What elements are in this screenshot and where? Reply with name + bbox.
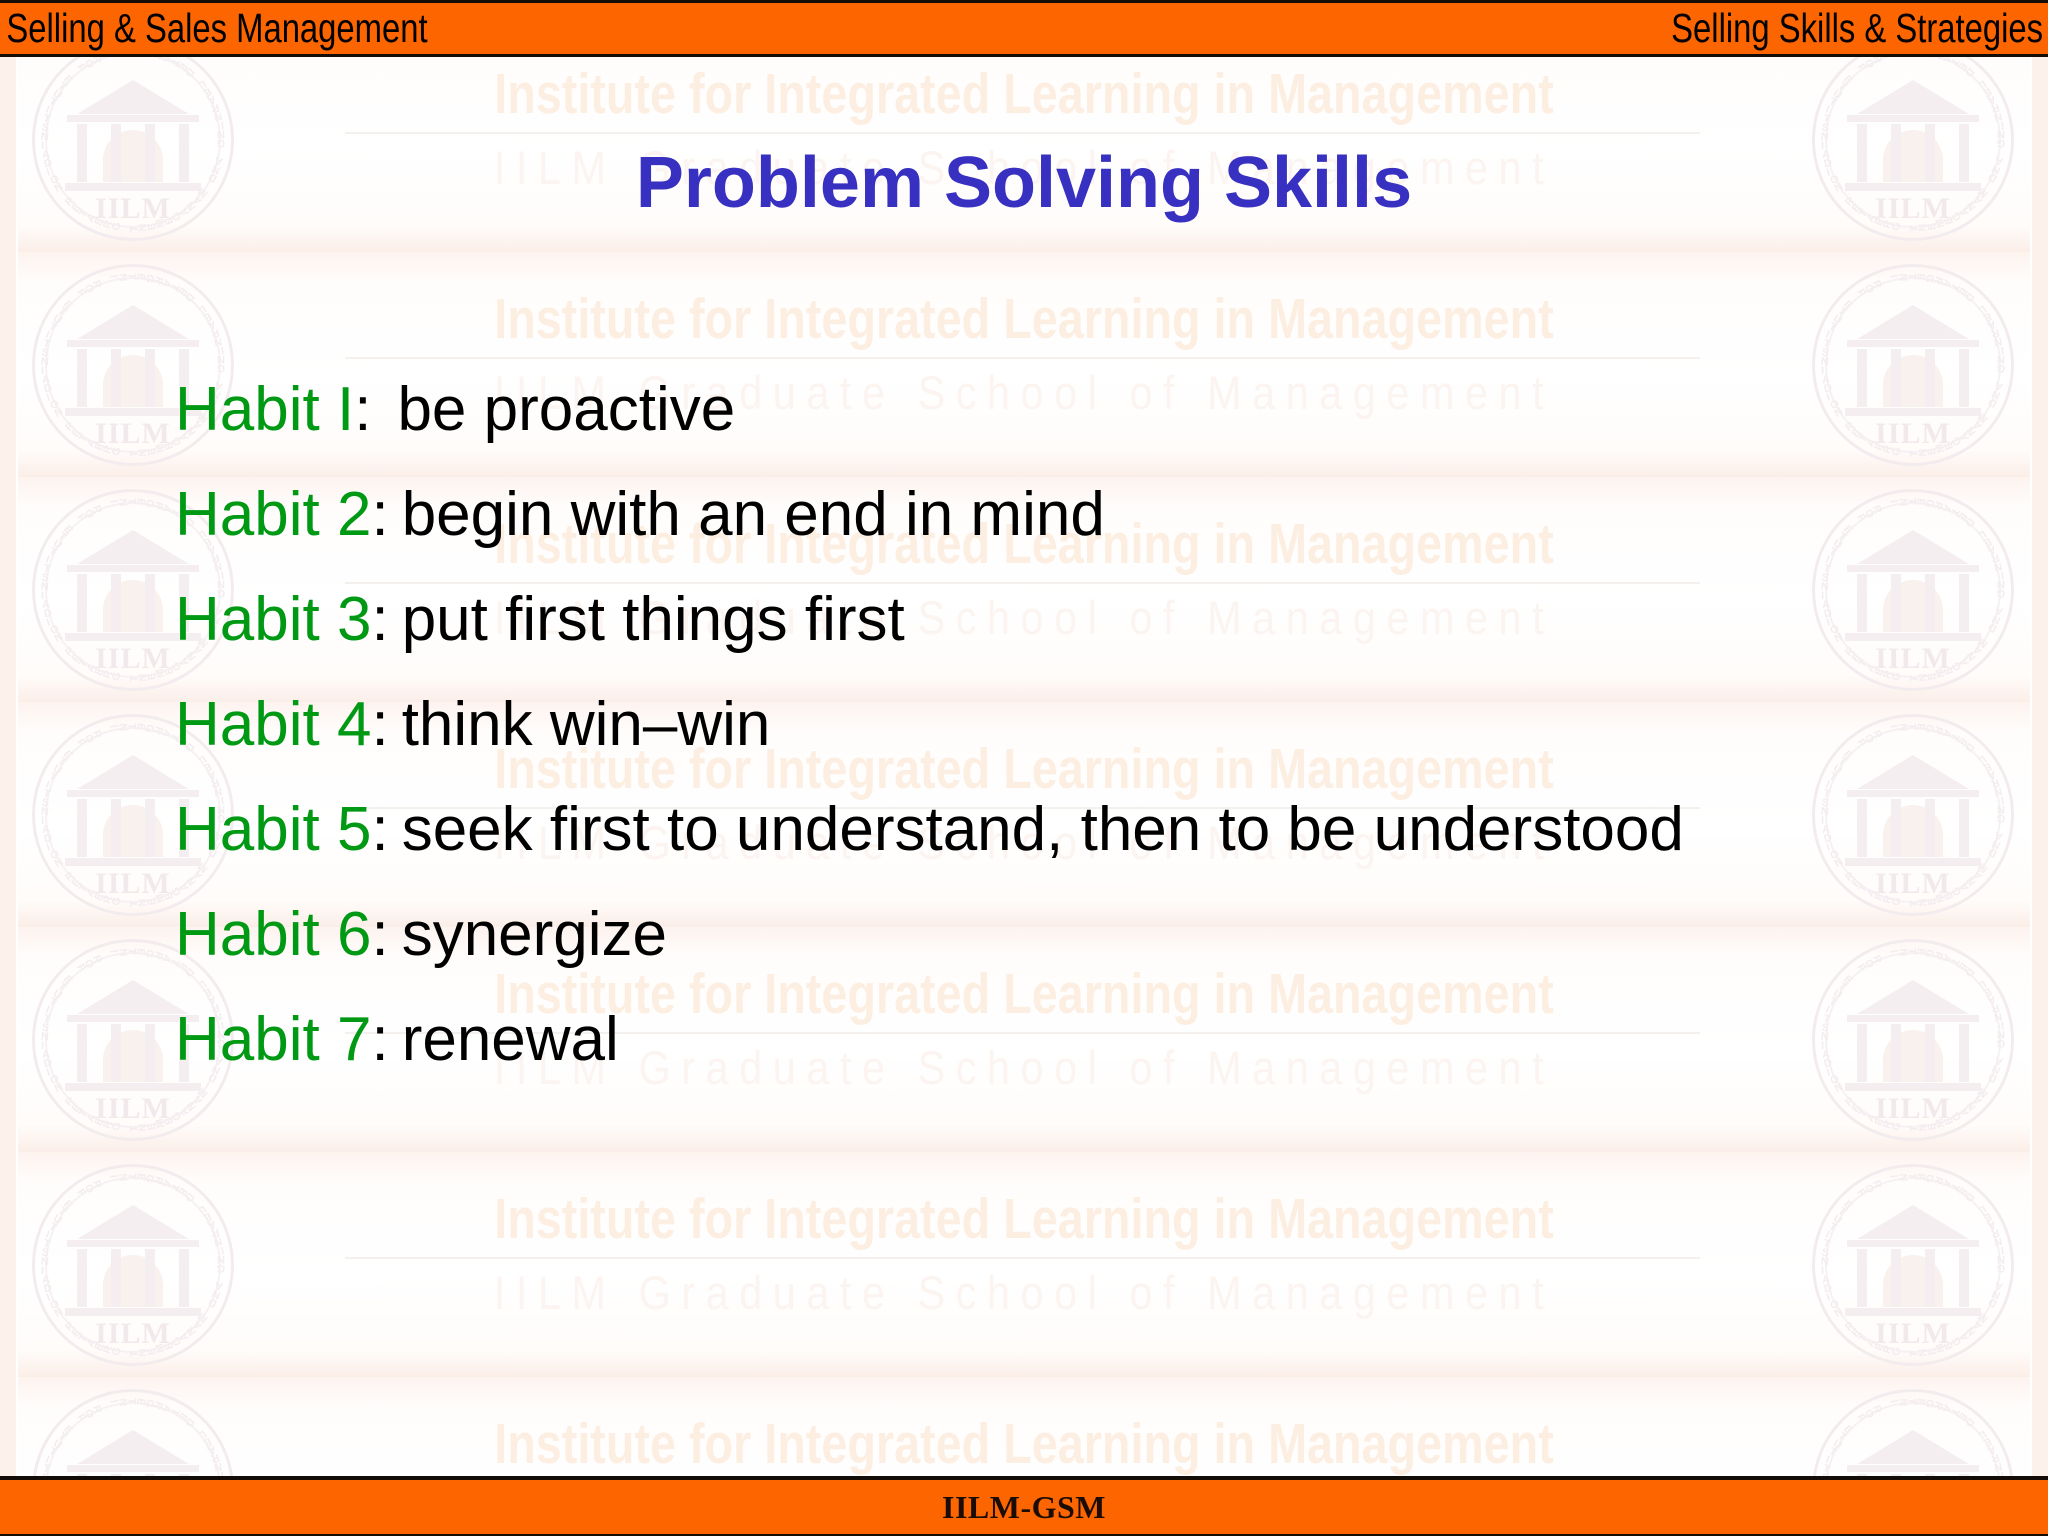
habit-label: Habit I (175, 379, 354, 441)
habit-row: Habit 6:synergize (175, 904, 1965, 1009)
slide-canvas: INSTITUTE FOR INTEGRATED LEARNING AND MA… (0, 0, 2048, 1536)
page-title: Problem Solving Skills (0, 147, 2048, 219)
habit-label: Habit 2 (175, 484, 371, 546)
habit-separator: : (371, 904, 388, 966)
slide-content: Problem Solving Skills Habit I:be proact… (0, 57, 2048, 1476)
header-bar: Selling & Sales Management Selling Skill… (0, 0, 2048, 57)
habit-description: seek first to understand, then to be und… (389, 799, 1684, 861)
habit-description: begin with an end in mind (389, 484, 1105, 546)
habit-label: Habit 5 (175, 799, 371, 861)
habit-row: Habit I:be proactive (175, 379, 1965, 484)
habit-row: Habit 3:put first things first (175, 589, 1965, 694)
header-course-title: Selling & Sales Management (0, 8, 428, 49)
habit-label: Habit 7 (175, 1009, 371, 1071)
habit-description: think win–win (389, 694, 771, 756)
habit-separator: : (371, 694, 388, 756)
habit-row: Habit 5:seek first to understand, then t… (175, 799, 1965, 904)
habit-separator: : (371, 799, 388, 861)
habit-row: Habit 2:begin with an end in mind (175, 484, 1965, 589)
habit-label: Habit 6 (175, 904, 371, 966)
habit-label: Habit 4 (175, 694, 371, 756)
habit-row: Habit 4:think win–win (175, 694, 1965, 799)
habit-separator: : (371, 484, 388, 546)
habit-separator: : (354, 379, 371, 441)
habit-description: be proactive (371, 379, 735, 441)
habit-description: synergize (389, 904, 667, 966)
habit-list: Habit I:be proactiveHabit 2:begin with a… (175, 379, 1965, 1114)
footer-label: IILM-GSM (942, 1491, 1106, 1523)
habit-description: put first things first (389, 589, 905, 651)
habit-row: Habit 7:renewal (175, 1009, 1965, 1114)
habit-label: Habit 3 (175, 589, 371, 651)
header-topic-title: Selling Skills & Strategies (1671, 8, 2048, 49)
footer-bar: IILM-GSM (0, 1476, 2048, 1536)
habit-separator: : (371, 589, 388, 651)
habit-separator: : (371, 1009, 388, 1071)
habit-description: renewal (389, 1009, 619, 1071)
